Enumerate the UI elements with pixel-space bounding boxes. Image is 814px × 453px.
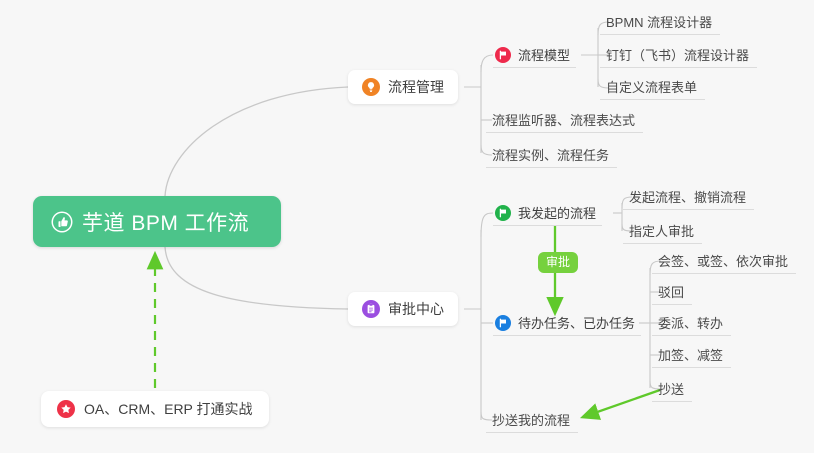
leaf-label-process-instance: 流程实例、流程任务 (492, 145, 609, 164)
leaf-node-add-remove-sign[interactable]: 加签、减签 (652, 342, 731, 368)
leaf-node-reject[interactable]: 驳回 (652, 279, 692, 305)
edge-ac-to-mystarted (481, 213, 493, 237)
leaf-label-dingtalk-designer: 钉钉（飞书）流程设计器 (606, 45, 749, 64)
branch-node-process-management[interactable]: 流程管理 (348, 70, 458, 104)
leaf-node-bpmn-designer[interactable]: BPMN 流程设计器 (600, 9, 720, 35)
edge-pm-to-model (481, 55, 493, 72)
node-process-model[interactable]: 流程模型 (493, 42, 576, 68)
free-node-label: OA、CRM、ERP 打通实战 (84, 399, 253, 419)
leaf-node-process-instance[interactable]: 流程实例、流程任务 (486, 142, 617, 168)
flag-icon (495, 205, 511, 221)
branch-label-approval-center: 审批中心 (388, 299, 444, 319)
leaf-label-launch-cancel-process: 发起流程、撤销流程 (629, 187, 746, 206)
leaf-label-cc-my-process: 抄送我的流程 (492, 410, 570, 429)
leaf-node-countersign[interactable]: 会签、或签、依次审批 (652, 248, 796, 274)
node-label-process-model: 流程模型 (518, 45, 570, 64)
leaf-label-cc: 抄送 (658, 379, 684, 398)
leaf-label-custom-form: 自定义流程表单 (606, 77, 697, 96)
edge-root-to-approval-center (165, 247, 348, 309)
leaf-label-assigned-approver: 指定人审批 (629, 221, 694, 240)
branch-label-process-management: 流程管理 (388, 77, 444, 97)
leaf-label-countersign: 会签、或签、依次审批 (658, 251, 788, 270)
star-icon (57, 400, 75, 418)
leaf-label-reject: 驳回 (658, 282, 684, 301)
edge-root-to-process-management (165, 87, 348, 196)
node-todo-done-tasks[interactable]: 待办任务、已办任务 (493, 310, 641, 336)
leaf-node-dingtalk-designer[interactable]: 钉钉（飞书）流程设计器 (600, 42, 757, 68)
flag-icon (495, 47, 511, 63)
root-node[interactable]: 芋道 BPM 工作流 (33, 196, 281, 247)
mindmap-canvas: 芋道 BPM 工作流 流程管理 流程模型 BPMN 流程设计器 钉钉（飞书 (0, 0, 814, 453)
annotation-chip-approval: 审批 (538, 252, 578, 273)
leaf-label-add-remove-sign: 加签、减签 (658, 345, 723, 364)
leaf-node-custom-form[interactable]: 自定义流程表单 (600, 74, 705, 100)
leaf-node-assigned-approver[interactable]: 指定人审批 (623, 218, 702, 244)
free-node-integration[interactable]: OA、CRM、ERP 打通实战 (41, 391, 269, 427)
lightbulb-icon (362, 78, 380, 96)
leaf-node-delegate-transfer[interactable]: 委派、转办 (652, 310, 731, 336)
leaf-node-launch-cancel-process[interactable]: 发起流程、撤销流程 (623, 184, 754, 210)
root-label: 芋道 BPM 工作流 (82, 207, 249, 237)
clipboard-icon (362, 300, 380, 318)
branch-node-approval-center[interactable]: 审批中心 (348, 292, 458, 326)
leaf-label-bpmn-designer: BPMN 流程设计器 (606, 12, 712, 31)
leaf-node-cc[interactable]: 抄送 (652, 376, 692, 402)
thumbs-up-icon (51, 211, 73, 233)
leaf-node-cc-my-process[interactable]: 抄送我的流程 (486, 407, 578, 433)
node-my-started-process[interactable]: 我发起的流程 (493, 200, 602, 226)
node-label-my-started-process: 我发起的流程 (518, 203, 596, 222)
green-arrow-cc (583, 390, 660, 417)
node-label-todo-done-tasks: 待办任务、已办任务 (518, 313, 635, 332)
leaf-label-process-listener: 流程监听器、流程表达式 (492, 110, 635, 129)
leaf-node-process-listener[interactable]: 流程监听器、流程表达式 (486, 107, 643, 133)
leaf-label-delegate-transfer: 委派、转办 (658, 313, 723, 332)
flag-icon (495, 315, 511, 331)
